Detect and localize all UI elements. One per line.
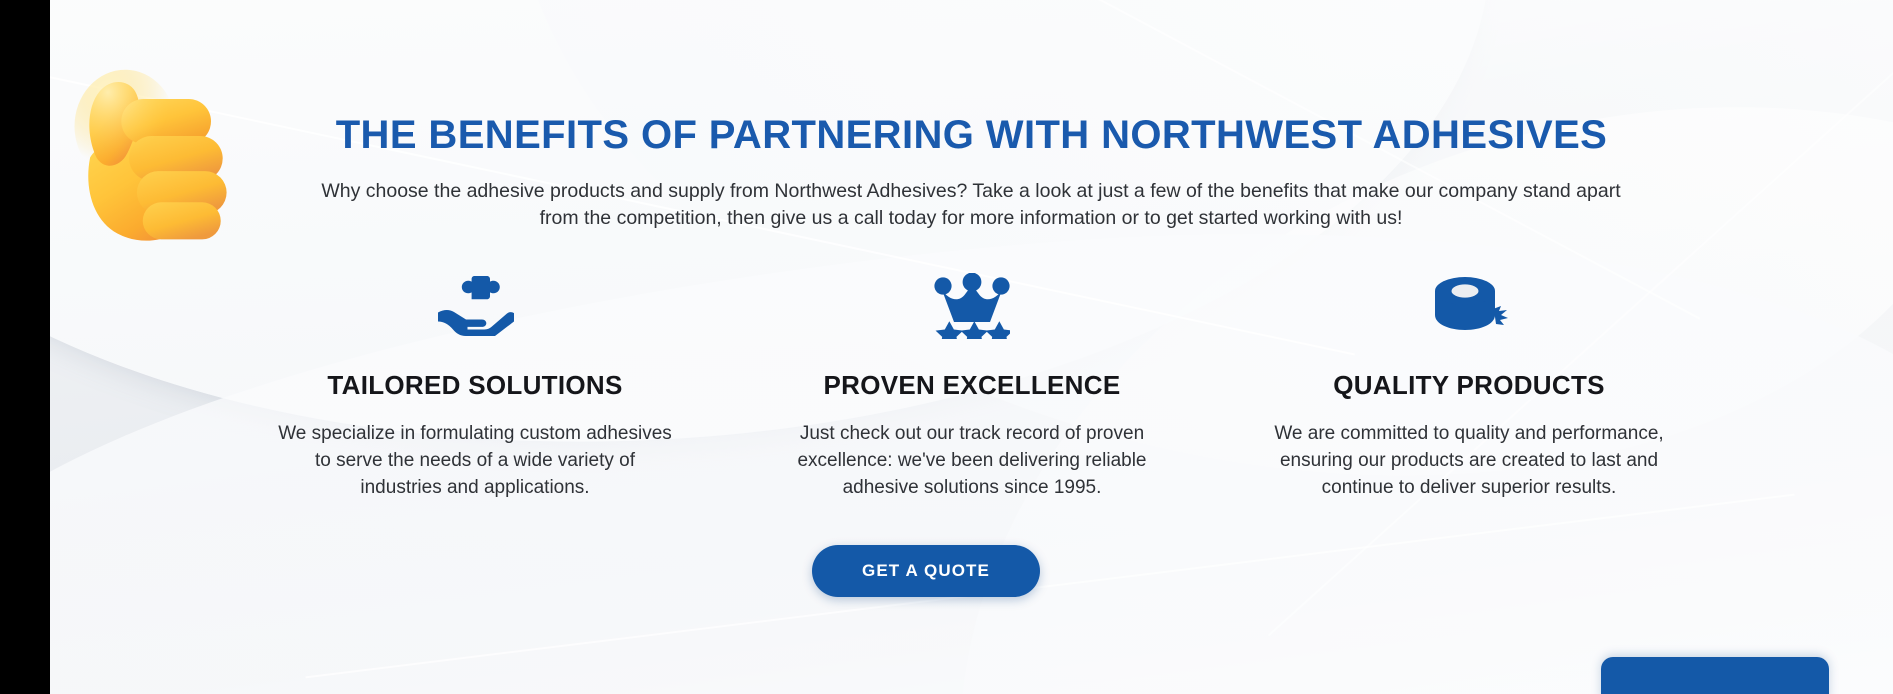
get-a-quote-button[interactable]: GET A QUOTE xyxy=(812,545,1040,597)
feature-card-proven-excellence: PROVEN EXCELLENCE Just check out our tra… xyxy=(762,268,1182,501)
feature-columns: TAILORED SOLUTIONS We specialize in form… xyxy=(265,268,1679,501)
section-content: THE BENEFITS OF PARTNERING WITH NORTHWES… xyxy=(50,0,1893,694)
feature-title: QUALITY PRODUCTS xyxy=(1259,370,1679,401)
feature-card-quality-products: QUALITY PRODUCTS We are committed to qua… xyxy=(1259,268,1679,501)
feature-card-tailored-solutions: TAILORED SOLUTIONS We specialize in form… xyxy=(265,268,685,501)
feature-description: We specialize in formulating custom adhe… xyxy=(265,420,685,501)
feature-title: TAILORED SOLUTIONS xyxy=(265,370,685,401)
page-canvas: THE BENEFITS OF PARTNERING WITH NORTHWES… xyxy=(50,0,1893,694)
screenshot-viewport: THE BENEFITS OF PARTNERING WITH NORTHWES… xyxy=(0,0,1893,694)
feature-description: Just check out our track record of prove… xyxy=(762,420,1182,501)
crown-with-three-stars-icon xyxy=(762,268,1182,344)
feature-description: We are committed to quality and performa… xyxy=(1259,420,1679,501)
hand-holding-puzzle-piece-icon xyxy=(265,268,685,344)
section-subtitle: Why choose the adhesive products and sup… xyxy=(321,178,1621,232)
left-black-gutter xyxy=(0,0,50,694)
tape-roll-icon xyxy=(1259,268,1679,344)
page-title: THE BENEFITS OF PARTNERING WITH NORTHWES… xyxy=(50,113,1893,158)
chat-widget-button[interactable] xyxy=(1601,657,1829,694)
feature-title: PROVEN EXCELLENCE xyxy=(762,370,1182,401)
